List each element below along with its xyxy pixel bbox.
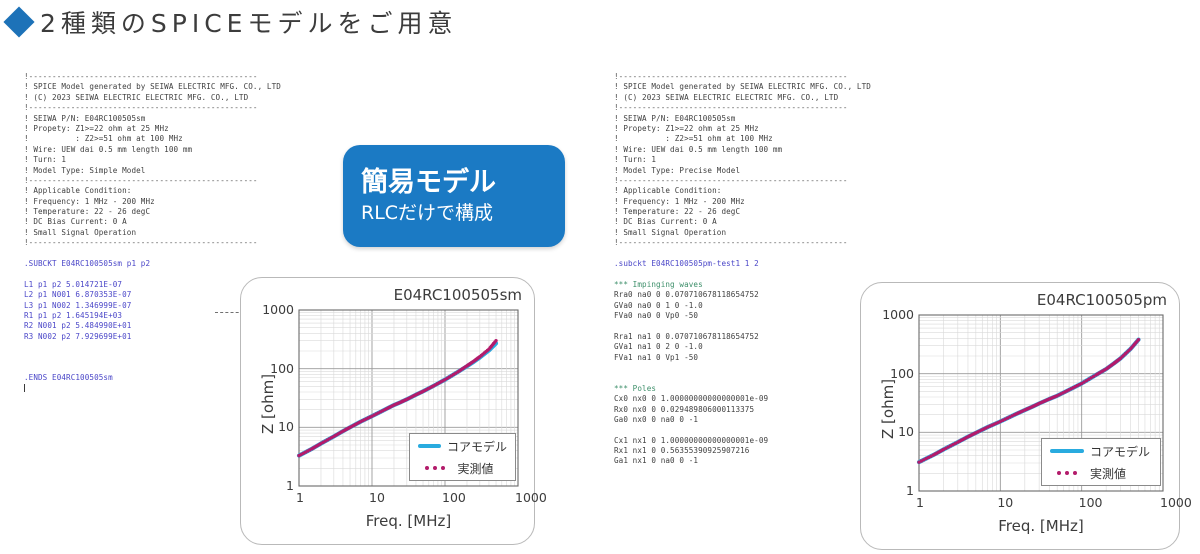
code-line: ! Wire: UEW dai 0.5 mm length 100 mm [614, 145, 944, 155]
x-tick-label: 100 [1079, 495, 1103, 510]
legend-line-swatch [1050, 449, 1084, 454]
code-line: ! Wire: UEW dai 0.5 mm length 100 mm [24, 145, 354, 155]
legend-item: 実測値 [418, 460, 508, 477]
code-line: ! SEIWA P/N: E04RC100505sm [24, 114, 354, 124]
simple-model-callout-subline: RLCだけで構成 [361, 201, 547, 226]
x-tick-label: 10 [369, 490, 385, 505]
y-axis-label: Z [ohm] [879, 379, 897, 439]
code-line [614, 269, 944, 279]
code-line: ! Applicable Condition: [614, 186, 944, 196]
code-line: ! Frequency: 1 MHz - 200 MHz [614, 197, 944, 207]
legend-item: コアモデル [1050, 443, 1152, 460]
code-line: ! Small Signal Operation [24, 228, 354, 238]
code-line: ! : Z2>=51 ohm at 100 MHz [614, 134, 944, 144]
code-line: ! (C) 2023 SEIWA ELECTRIC ELECTRIC MFG. … [24, 93, 354, 103]
legend-label: コアモデル [447, 438, 507, 455]
chart-svg [241, 278, 534, 544]
code-line: !---------------------------------------… [24, 103, 354, 113]
diamond-bullet-icon [3, 6, 34, 37]
code-line: !---------------------------------------… [24, 72, 354, 82]
code-line: !---------------------------------------… [24, 176, 354, 186]
y-tick-label: 1000 [262, 302, 294, 317]
code-line: ! (C) 2023 SEIWA ELECTRIC ELECTRIC MFG. … [614, 93, 944, 103]
x-tick-label: 100 [442, 490, 466, 505]
legend-dots-swatch [418, 466, 452, 470]
legend-item: コアモデル [418, 438, 508, 455]
code-line: ! Applicable Condition: [24, 186, 354, 196]
simple-model-callout-headline: 簡易モデル [361, 167, 547, 200]
legend-item: 実測値 [1050, 465, 1152, 482]
code-line: .subckt E04RC100505pm-test1 1 2 [614, 259, 944, 269]
chart-legend: コアモデル実測値 [1041, 438, 1161, 486]
slide-root: 2種類のSPICEモデルをご用意 !----------------------… [0, 0, 1200, 514]
legend-label: 実測値 [1090, 465, 1126, 482]
code-line: ! Small Signal Operation [614, 228, 944, 238]
precise-model-chart-card: E04RC100505pm 11010010001101001000Z [ohm… [860, 282, 1180, 550]
simple-model-chart-card: E04RC100505sm 11010010001101001000Z [ohm… [240, 277, 535, 545]
code-line: ! Temperature: 22 - 26 degC [614, 207, 944, 217]
code-line: ! : Z2>=51 ohm at 100 MHz [24, 134, 354, 144]
code-line: ! DC Bias Current: 0 A [24, 217, 354, 227]
x-axis-label: Freq. [MHz] [919, 517, 1163, 535]
page-title-text: 2種類のSPICEモデルをご用意 [40, 4, 457, 40]
code-line: ! Model Type: Simple Model [24, 166, 354, 176]
y-tick-label: 1000 [882, 307, 914, 322]
code-line: ! SEIWA P/N: E04RC100505sm [614, 114, 944, 124]
legend-line-swatch [418, 444, 441, 449]
precise-model-panel: !---------------------------------------… [600, 72, 1180, 492]
legend-label: 実測値 [458, 460, 494, 477]
code-line: ! Frequency: 1 MHz - 200 MHz [24, 197, 354, 207]
code-line [24, 249, 354, 259]
chart-svg [861, 283, 1179, 549]
code-line: ! Turn: 1 [24, 155, 354, 165]
code-line: ! Propety: Z1>=22 ohm at 25 MHz [24, 124, 354, 134]
y-tick-label: 1 [906, 483, 914, 498]
code-line: ! Turn: 1 [614, 155, 944, 165]
code-line [614, 249, 944, 259]
legend-dots-swatch [1050, 471, 1084, 475]
y-tick-label: 10 [898, 424, 914, 439]
simple-model-callout: 簡易モデル RLCだけで構成 [343, 145, 565, 247]
simple-model-plot: 11010010001101001000Z [ohm]Freq. [MHz]コア… [241, 278, 534, 544]
y-tick-label: 1 [286, 478, 294, 493]
x-tick-label: 1000 [515, 490, 547, 505]
x-tick-label: 1000 [1160, 495, 1192, 510]
code-line: !---------------------------------------… [614, 176, 944, 186]
simple-model-panel: !---------------------------------------… [10, 72, 590, 492]
page-title: 2種類のSPICEモデルをご用意 [8, 4, 457, 40]
code-line: ! SPICE Model generated by SEIWA ELECTRI… [614, 82, 944, 92]
y-axis-label: Z [ohm] [259, 374, 277, 434]
code-line: !---------------------------------------… [614, 103, 944, 113]
code-line: !---------------------------------------… [614, 238, 944, 248]
code-line: ! SPICE Model generated by SEIWA ELECTRI… [24, 82, 354, 92]
x-tick-label: 1 [296, 490, 304, 505]
code-line: ! Model Type: Precise Model [614, 166, 944, 176]
code-line: !---------------------------------------… [24, 238, 354, 248]
x-axis-label: Freq. [MHz] [299, 512, 518, 530]
x-tick-label: 10 [997, 495, 1013, 510]
chart-legend: コアモデル実測値 [409, 433, 517, 481]
code-line: ! DC Bias Current: 0 A [614, 217, 944, 227]
y-tick-label: 10 [278, 419, 294, 434]
legend-label: コアモデル [1090, 443, 1150, 460]
code-line: ! Propety: Z1>=22 ohm at 25 MHz [614, 124, 944, 134]
x-tick-label: 1 [916, 495, 924, 510]
code-line: !---------------------------------------… [614, 72, 944, 82]
code-line: .SUBCKT E04RC100505sm p1 p2 [24, 259, 354, 269]
precise-model-plot: 11010010001101001000Z [ohm]Freq. [MHz]コア… [861, 283, 1179, 549]
code-line: ! Temperature: 22 - 26 degC [24, 207, 354, 217]
